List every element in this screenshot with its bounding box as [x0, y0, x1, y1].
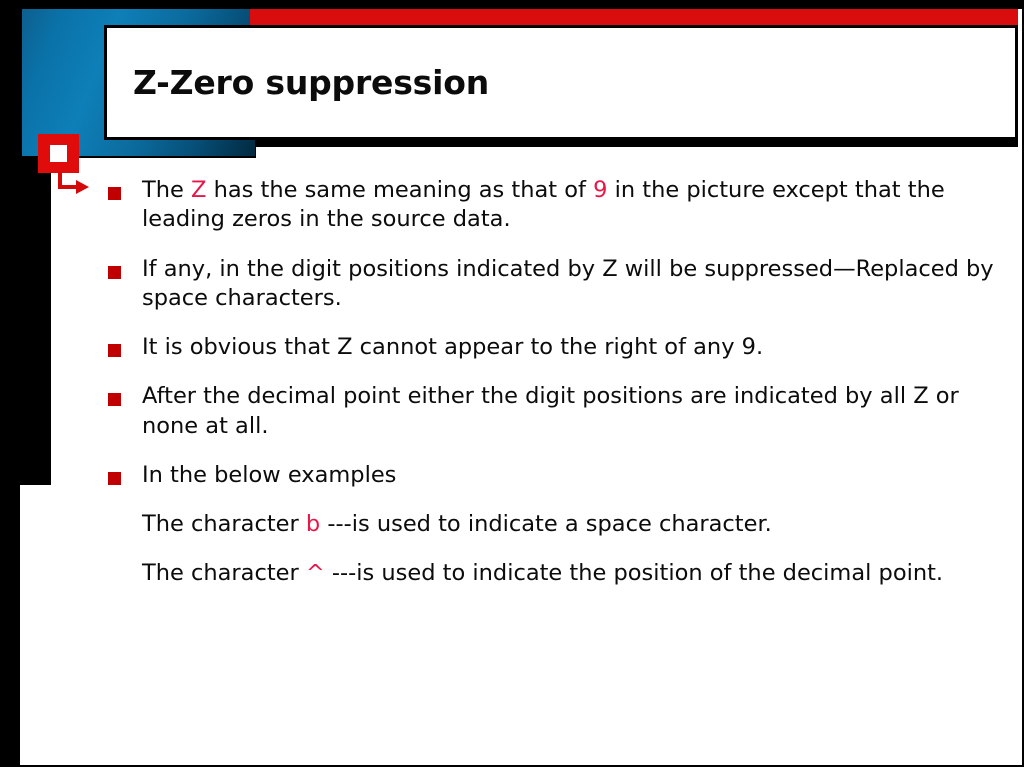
text-run: It is obvious that Z cannot appear to th… [142, 334, 763, 360]
bullet-item: The Z has the same meaning as that of 9 … [108, 176, 1006, 235]
text-run: The [142, 177, 191, 203]
bullet-square-icon [108, 187, 121, 200]
bullet-item: If any, in the digit positions indicated… [108, 255, 1006, 314]
red-arrow-icon [58, 172, 90, 196]
red-square-ornament [38, 134, 79, 173]
text-run: After the decimal point either the digit… [142, 383, 959, 438]
bullet-text: If any, in the digit positions indicated… [142, 255, 1006, 314]
bullet-item: It is obvious that Z cannot appear to th… [108, 333, 1006, 362]
note-list: The character b ---is used to indicate a… [108, 510, 1006, 589]
text-run: ---is used to indicate a space character… [320, 511, 772, 537]
bullet-item: In the below examples [108, 461, 1006, 490]
note-text: The character b ---is used to indicate a… [142, 510, 772, 539]
text-run: In the below examples [142, 462, 396, 488]
bullet-item: After the decimal point either the digit… [108, 382, 1006, 441]
note-item: The character ^ ---is used to indicate t… [108, 559, 1006, 588]
text-run: has the same meaning as that of [206, 177, 593, 203]
top-black-band [0, 0, 1024, 9]
bullet-text: In the below examples [142, 461, 1006, 490]
highlighted-token: ^ [306, 560, 325, 586]
slide-content: The Z has the same meaning as that of 9 … [108, 176, 1006, 609]
text-run: The character [142, 511, 306, 537]
page-title: Z-Zero suppression [107, 63, 489, 102]
note-item: The character b ---is used to indicate a… [108, 510, 1006, 539]
highlighted-token: b [306, 511, 320, 537]
text-run: ---is used to indicate the position of t… [325, 560, 943, 586]
slide-title-box: Z-Zero suppression [104, 25, 1018, 140]
bullet-square-icon [108, 266, 121, 279]
highlighted-token: 9 [593, 177, 607, 203]
bullet-text: It is obvious that Z cannot appear to th… [142, 333, 1006, 362]
bullet-square-icon [108, 393, 121, 406]
bullet-square-icon [108, 344, 121, 357]
bullet-text: After the decimal point either the digit… [142, 382, 1006, 441]
slide-canvas: Z-Zero suppression The Z has the same me… [0, 0, 1024, 767]
left-black-column-narrow [0, 485, 20, 767]
note-text: The character ^ ---is used to indicate t… [142, 559, 943, 588]
bullet-list: The Z has the same meaning as that of 9 … [108, 176, 1006, 490]
text-run: The character [142, 560, 306, 586]
text-run: If any, in the digit positions indicated… [142, 256, 994, 311]
bullet-square-icon [108, 472, 121, 485]
highlighted-token: Z [191, 177, 206, 203]
bullet-text: The Z has the same meaning as that of 9 … [142, 176, 1006, 235]
red-square-ornament-center [50, 145, 67, 162]
